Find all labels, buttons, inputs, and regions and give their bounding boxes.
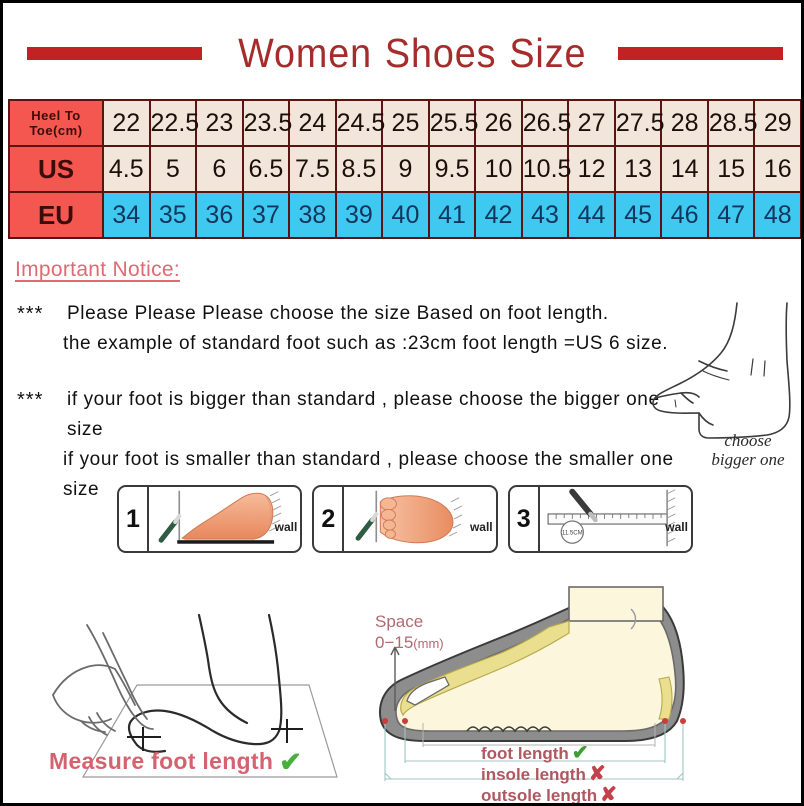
cell-eu-14: 48 <box>754 192 801 238</box>
cell-us-11: 13 <box>615 146 662 192</box>
step-number-3: 3 <box>510 487 540 551</box>
step-3-illustration: 11.5CM wall <box>540 487 691 551</box>
cell-cm-5: 24.5 <box>336 100 383 146</box>
measurement-steps: 1 <box>117 485 693 553</box>
cell-us-7: 9.5 <box>429 146 476 192</box>
cell-cm-10: 27 <box>568 100 615 146</box>
cell-cm-0: 22 <box>103 100 150 146</box>
size-chart-page: WomenShoesSize Heel To Toe(cm) 22 22.5 2… <box>0 0 804 806</box>
cell-cm-2: 23 <box>196 100 243 146</box>
cell-eu-8: 42 <box>475 192 522 238</box>
cell-us-3: 6.5 <box>243 146 290 192</box>
notice-stars-1: *** <box>17 299 67 329</box>
legend-item-outsole-length: outsole length✘ <box>481 785 741 806</box>
measure-foot-length-label: Measure foot length✔ <box>49 747 302 778</box>
step-2-illustration: wall <box>344 487 495 551</box>
table-row-us: US 4.5 5 6 6.5 7.5 8.5 9 9.5 10 10.5 12 … <box>9 146 801 192</box>
notice-paragraph-1: ***Please Please Please choose the size … <box>17 299 707 359</box>
wall-label-3: wall <box>665 520 688 534</box>
cell-eu-11: 45 <box>615 192 662 238</box>
size-conversion-table: Heel To Toe(cm) 22 22.5 23 23.5 24 24.5 … <box>8 99 802 239</box>
notice-p1-line2: the example of standard foot such as :23… <box>17 329 707 359</box>
cell-cm-6: 25 <box>382 100 429 146</box>
title-bar-right <box>618 47 783 60</box>
notice-p1-line1: Please Please Please choose the size Bas… <box>67 299 687 329</box>
length-legend: foot length✔ insole length✘ outsole leng… <box>481 743 741 806</box>
cell-us-9: 10.5 <box>522 146 569 192</box>
cell-cm-3: 23.5 <box>243 100 290 146</box>
cell-eu-10: 44 <box>568 192 615 238</box>
notice-p2-line1: if your foot is bigger than standard , p… <box>67 385 687 445</box>
page-title: WomenShoesSize <box>231 30 592 77</box>
step-box-1: 1 <box>117 485 302 553</box>
cell-us-14: 16 <box>754 146 801 192</box>
notice-stars-2: *** <box>17 385 67 415</box>
cell-eu-1: 35 <box>150 192 197 238</box>
step-box-2: 2 <box>312 485 497 553</box>
cell-eu-0: 34 <box>103 192 150 238</box>
table-row-cm: Heel To Toe(cm) 22 22.5 23 23.5 24 24.5 … <box>9 100 801 146</box>
cell-eu-7: 41 <box>429 192 476 238</box>
cell-eu-5: 39 <box>336 192 383 238</box>
cell-us-2: 6 <box>196 146 243 192</box>
check-mark-icon-foot-length: ✔ <box>572 742 589 764</box>
cell-cm-11: 27.5 <box>615 100 662 146</box>
cell-cm-7: 25.5 <box>429 100 476 146</box>
svg-text:11.5CM: 11.5CM <box>562 531 583 537</box>
cell-cm-9: 26.5 <box>522 100 569 146</box>
title-bar-left <box>27 47 202 60</box>
row-header-us: US <box>9 146 103 192</box>
legend-label-outsole-length: outsole length <box>481 786 597 805</box>
legend-item-insole-length: insole length✘ <box>481 764 741 785</box>
cell-eu-2: 36 <box>196 192 243 238</box>
cross-mark-icon-outsole-length: ✘ <box>600 784 617 806</box>
cell-eu-13: 47 <box>708 192 755 238</box>
space-label-line1: Space <box>375 612 423 631</box>
cell-us-12: 14 <box>661 146 708 192</box>
cell-us-4: 7.5 <box>289 146 336 192</box>
title-word-3: Size <box>509 30 586 76</box>
cell-cm-8: 26 <box>475 100 522 146</box>
cell-us-8: 10 <box>475 146 522 192</box>
cell-us-10: 12 <box>568 146 615 192</box>
step-number-2: 2 <box>314 487 344 551</box>
cell-cm-14: 29 <box>754 100 801 146</box>
space-label-line2: 0−15 <box>375 633 413 652</box>
step-box-3: 3 11.5CM <box>508 485 693 553</box>
table-row-eu: EU 34 35 36 37 38 39 40 41 42 43 44 45 4… <box>9 192 801 238</box>
choose-caption-line1: choose <box>724 431 771 450</box>
cell-cm-13: 28.5 <box>708 100 755 146</box>
check-mark-icon: ✔ <box>279 747 302 777</box>
title-word-2: Shoes <box>385 30 497 76</box>
cell-eu-3: 37 <box>243 192 290 238</box>
legend-item-foot-length: foot length✔ <box>481 743 741 764</box>
row-header-eu: EU <box>9 192 103 238</box>
wall-label-1: wall <box>275 520 298 534</box>
wall-label-2: wall <box>470 520 493 534</box>
cell-cm-12: 28 <box>661 100 708 146</box>
space-gap-label: Space 0−15(mm) <box>375 611 444 654</box>
cell-cm-4: 24 <box>289 100 336 146</box>
cell-eu-4: 38 <box>289 192 336 238</box>
cell-eu-12: 46 <box>661 192 708 238</box>
cell-eu-6: 40 <box>382 192 429 238</box>
important-notice-heading: Important Notice: <box>15 258 180 282</box>
cell-us-5: 8.5 <box>336 146 383 192</box>
measure-foot-length-text: Measure foot length <box>49 748 273 774</box>
choose-caption-line2: bigger one <box>711 450 784 469</box>
cell-cm-1: 22.5 <box>150 100 197 146</box>
cell-us-0: 4.5 <box>103 146 150 192</box>
step-1-illustration: wall <box>149 487 300 551</box>
cell-eu-9: 43 <box>522 192 569 238</box>
choose-bigger-one-caption: choose bigger one <box>693 431 803 469</box>
cell-us-1: 5 <box>150 146 197 192</box>
cross-mark-icon-insole-length: ✘ <box>589 763 606 785</box>
legend-label-foot-length: foot length <box>481 744 569 763</box>
space-label-unit: (mm) <box>413 636 443 651</box>
title-word-1: Women <box>238 30 372 76</box>
step-number-1: 1 <box>119 487 149 551</box>
cell-us-13: 15 <box>708 146 755 192</box>
cell-us-6: 9 <box>382 146 429 192</box>
legend-label-insole-length: insole length <box>481 765 586 784</box>
page-title-row: WomenShoesSize <box>3 25 804 81</box>
row-header-heel-to-toe: Heel To Toe(cm) <box>9 100 103 146</box>
